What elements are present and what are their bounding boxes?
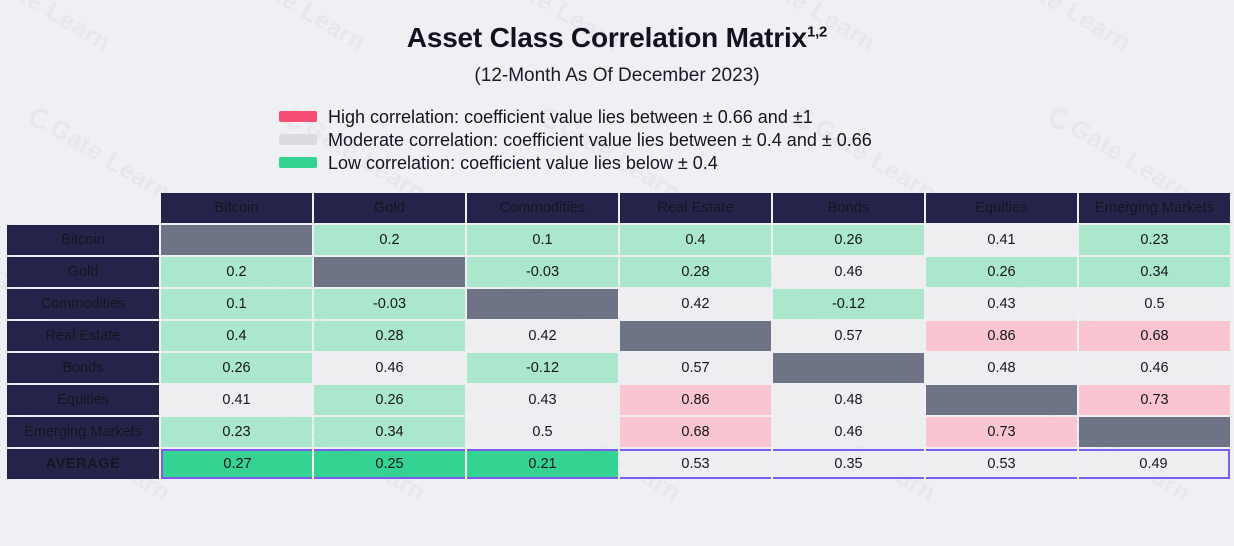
column-header-gold: Gold	[314, 193, 465, 223]
matrix-cell-diagonal	[620, 321, 771, 351]
row-header-bitcoin: Bitcoin	[7, 225, 159, 255]
page-title-superscript: 1,2	[807, 24, 827, 41]
legend-swatch-icon	[279, 111, 317, 122]
matrix-cell: 0.1	[467, 225, 618, 255]
matrix-cell: 0.34	[314, 417, 465, 447]
matrix-cell: 0.28	[314, 321, 465, 351]
legend-label: High correlation: coefficient value lies…	[328, 108, 813, 126]
legend-item: Low correlation: coefficient value lies …	[279, 151, 1234, 174]
average-cell: 0.27	[161, 449, 312, 479]
matrix-corner-cell	[7, 193, 159, 223]
matrix-head: BitcoinGoldCommoditiesReal EstateBondsEq…	[7, 193, 1230, 223]
matrix-cell: 0.26	[773, 225, 924, 255]
legend-label: Low correlation: coefficient value lies …	[328, 154, 718, 172]
matrix-cell: 0.23	[1079, 225, 1230, 255]
page-subtitle: (12-Month As Of December 2023)	[0, 65, 1234, 87]
matrix-cell: 0.57	[620, 353, 771, 383]
correlation-matrix-table: BitcoinGoldCommoditiesReal EstateBondsEq…	[5, 191, 1232, 481]
column-header-bonds: Bonds	[773, 193, 924, 223]
table-row: Bonds0.260.46-0.120.570.480.46	[7, 353, 1230, 383]
matrix-cell: 0.42	[620, 289, 771, 319]
average-cell: 0.21	[467, 449, 618, 479]
matrix-cell-diagonal	[161, 225, 312, 255]
matrix-body: Bitcoin0.20.10.40.260.410.23Gold0.2-0.03…	[7, 225, 1230, 479]
matrix-cell: 0.26	[926, 257, 1077, 287]
matrix-cell: 0.46	[773, 257, 924, 287]
matrix-cell: 0.2	[314, 225, 465, 255]
column-header-commodities: Commodities	[467, 193, 618, 223]
row-header-average: AVERAGE	[7, 449, 159, 479]
matrix-cell: -0.12	[773, 289, 924, 319]
matrix-cell: 0.1	[161, 289, 312, 319]
matrix-cell: 0.86	[926, 321, 1077, 351]
matrix-cell: 0.57	[773, 321, 924, 351]
matrix-cell: 0.41	[926, 225, 1077, 255]
matrix-cell-diagonal	[1079, 417, 1230, 447]
row-header-real-estate: Real Estate	[7, 321, 159, 351]
matrix-cell: 0.26	[161, 353, 312, 383]
matrix-cell: 0.68	[1079, 321, 1230, 351]
table-row: Commodities0.1-0.030.42-0.120.430.5	[7, 289, 1230, 319]
matrix-cell: 0.34	[1079, 257, 1230, 287]
average-cell: 0.25	[314, 449, 465, 479]
matrix-cell-diagonal	[926, 385, 1077, 415]
matrix-cell: -0.03	[314, 289, 465, 319]
row-header-gold: Gold	[7, 257, 159, 287]
column-header-emerging-markets: Emerging Markets	[1079, 193, 1230, 223]
matrix-cell-diagonal	[314, 257, 465, 287]
matrix-cell-diagonal	[773, 353, 924, 383]
average-cell: 0.53	[926, 449, 1077, 479]
row-header-emerging-markets: Emerging Markets	[7, 417, 159, 447]
column-header-bitcoin: Bitcoin	[161, 193, 312, 223]
matrix-cell-diagonal	[467, 289, 618, 319]
average-cell: 0.35	[773, 449, 924, 479]
matrix-cell: 0.46	[773, 417, 924, 447]
legend-item: Moderate correlation: coefficient value …	[279, 128, 1234, 151]
table-row: Equities0.410.260.430.860.480.73	[7, 385, 1230, 415]
average-cell: 0.53	[620, 449, 771, 479]
column-header-real-estate: Real Estate	[620, 193, 771, 223]
correlation-matrix-wrap: BitcoinGoldCommoditiesReal EstateBondsEq…	[0, 191, 1234, 481]
page-title: Asset Class Correlation Matrix1,2	[0, 23, 1234, 52]
matrix-cell: 0.73	[1079, 385, 1230, 415]
matrix-cell: 0.73	[926, 417, 1077, 447]
matrix-cell: 0.46	[314, 353, 465, 383]
table-row: Bitcoin0.20.10.40.260.410.23	[7, 225, 1230, 255]
matrix-cell: 0.48	[773, 385, 924, 415]
table-row: Gold0.2-0.030.280.460.260.34	[7, 257, 1230, 287]
matrix-cell: 0.43	[467, 385, 618, 415]
matrix-cell: 0.48	[926, 353, 1077, 383]
row-header-commodities: Commodities	[7, 289, 159, 319]
legend-item: High correlation: coefficient value lies…	[279, 105, 1234, 128]
matrix-cell: 0.23	[161, 417, 312, 447]
matrix-cell: 0.5	[467, 417, 618, 447]
average-row: AVERAGE0.270.250.210.530.350.530.49	[7, 449, 1230, 479]
legend-label: Moderate correlation: coefficient value …	[328, 131, 872, 149]
matrix-cell: 0.43	[926, 289, 1077, 319]
matrix-cell: -0.12	[467, 353, 618, 383]
matrix-cell: 0.4	[620, 225, 771, 255]
matrix-header-row: BitcoinGoldCommoditiesReal EstateBondsEq…	[7, 193, 1230, 223]
matrix-cell: 0.5	[1079, 289, 1230, 319]
matrix-cell: 0.46	[1079, 353, 1230, 383]
legend: High correlation: coefficient value lies…	[0, 105, 1234, 174]
average-cell: 0.49	[1079, 449, 1230, 479]
matrix-cell: 0.4	[161, 321, 312, 351]
matrix-cell: 0.68	[620, 417, 771, 447]
matrix-cell: 0.28	[620, 257, 771, 287]
matrix-cell: 0.26	[314, 385, 465, 415]
matrix-cell: -0.03	[467, 257, 618, 287]
matrix-cell: 0.2	[161, 257, 312, 287]
table-row: Emerging Markets0.230.340.50.680.460.73	[7, 417, 1230, 447]
matrix-cell: 0.42	[467, 321, 618, 351]
table-row: Real Estate0.40.280.420.570.860.68	[7, 321, 1230, 351]
row-header-equities: Equities	[7, 385, 159, 415]
legend-swatch-icon	[279, 134, 317, 145]
page-title-text: Asset Class Correlation Matrix	[407, 22, 807, 53]
matrix-cell: 0.41	[161, 385, 312, 415]
row-header-bonds: Bonds	[7, 353, 159, 383]
column-header-equities: Equities	[926, 193, 1077, 223]
header-block: Asset Class Correlation Matrix1,2 (12-Mo…	[0, 0, 1234, 87]
legend-swatch-icon	[279, 157, 317, 168]
matrix-cell: 0.86	[620, 385, 771, 415]
